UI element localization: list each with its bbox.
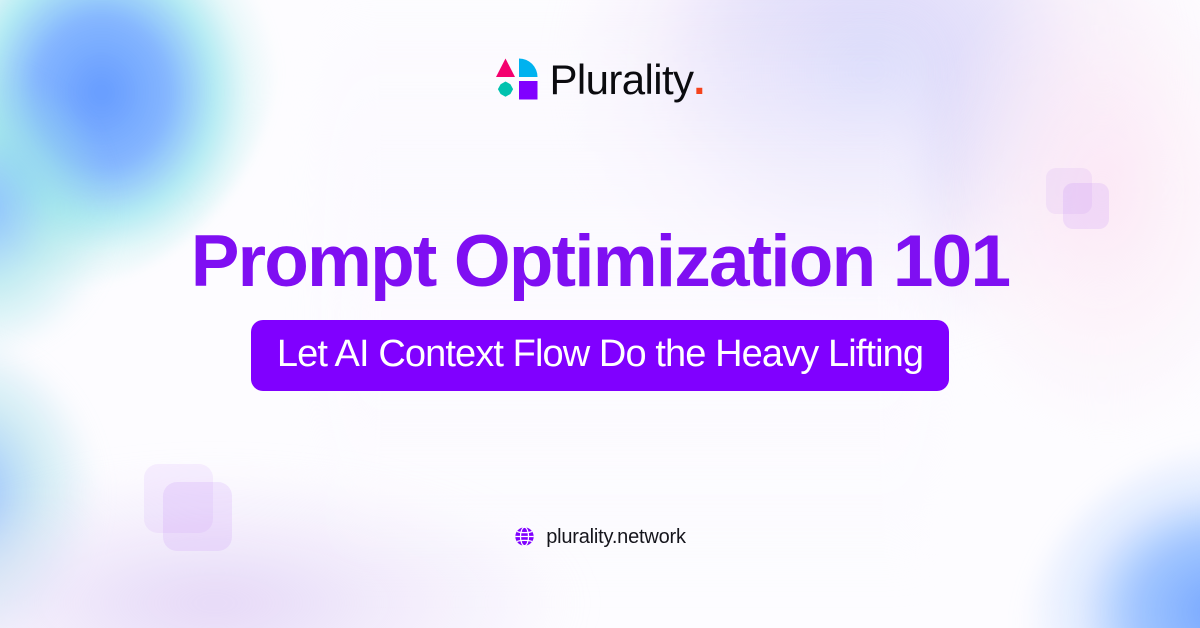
brand-wordmark-text: Plurality bbox=[549, 59, 693, 101]
footer: plurality.network bbox=[0, 526, 1200, 547]
footer-url: plurality.network bbox=[546, 527, 686, 547]
gradient-blob-bottom-left bbox=[0, 470, 610, 628]
brand-wordmark: Plurality. bbox=[549, 59, 704, 101]
hero-subtitle-pill: Let AI Context Flow Do the Heavy Lifting bbox=[251, 320, 949, 391]
hero-headline-wrap: Prompt Optimization 101 bbox=[0, 225, 1200, 298]
brand-wordmark-dot: . bbox=[693, 59, 704, 101]
decorative-square-bottom-left-back bbox=[144, 464, 213, 533]
hero-headline: Prompt Optimization 101 bbox=[0, 225, 1200, 298]
social-card: Plurality. Prompt Optimization 101 Let A… bbox=[0, 0, 1200, 628]
plurality-logo-mark bbox=[495, 57, 539, 103]
hero-subtitle-row: Let AI Context Flow Do the Heavy Lifting bbox=[0, 320, 1200, 391]
globe-icon bbox=[514, 526, 535, 547]
brand-header: Plurality. bbox=[0, 57, 1200, 103]
decorative-square-top-right-back bbox=[1046, 168, 1092, 214]
decorative-square-top-right-front bbox=[1063, 183, 1109, 229]
